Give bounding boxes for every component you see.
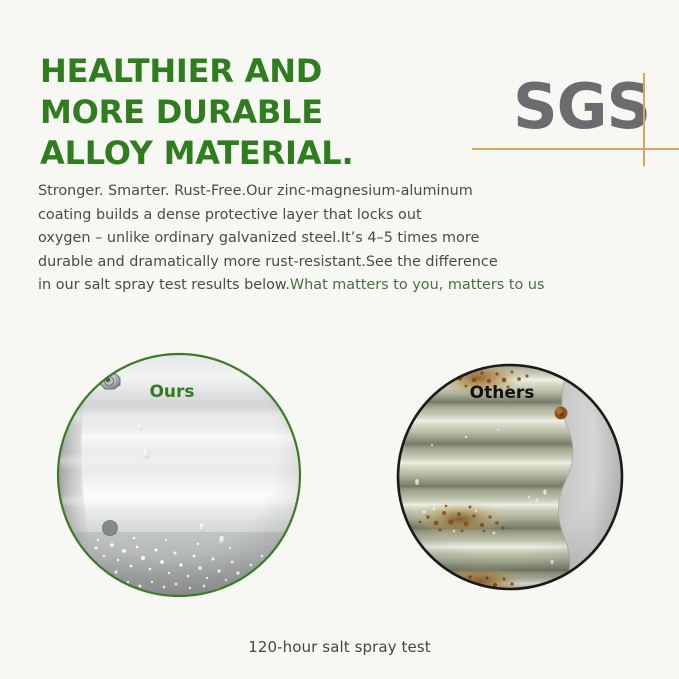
paragraph-line-3: oxygen – unlike ordinary galvanized stee… [38, 227, 644, 251]
ours-circle-border [58, 354, 300, 596]
headline-line-2: MORE DURABLE [40, 92, 440, 133]
paragraph-line-5: in our salt spray test results below.Wha… [38, 274, 644, 298]
corrugation-ribs [396, 363, 626, 601]
rust-spot [555, 407, 568, 420]
large-droplets [138, 424, 225, 545]
paragraph-line-5-plain: in our salt spray test results below. [38, 277, 290, 293]
paragraph-line-2: coating builds a dense protective layer … [38, 204, 644, 228]
ours-label: Ours [149, 382, 194, 402]
page-title: HEALTHIER AND MORE DURABLE ALLOY MATERIA… [40, 51, 440, 174]
water-droplets [89, 537, 264, 591]
surface-speckles [415, 429, 553, 567]
rust-patch-bottom [438, 566, 522, 598]
rust-patch-top [434, 361, 529, 395]
body-paragraph: Stronger. Smarter. Rust-Free.Our zinc-ma… [38, 180, 644, 298]
sgs-logo-text: SGS [513, 66, 650, 148]
wavy-edge [558, 363, 626, 593]
paragraph-line-4: durable and dramatically more rust-resis… [38, 251, 644, 275]
sgs-vertical-rule [643, 73, 645, 166]
tagline-accent: What matters to you, matters to us [290, 277, 545, 293]
paragraph-line-1: Stronger. Smarter. Rust-Free.Our zinc-ma… [38, 180, 644, 204]
rivet [103, 521, 118, 536]
headline-line-3: ALLOY MATERIAL. [40, 133, 440, 174]
others-sample: Others [396, 361, 626, 601]
headline-line-1: HEALTHIER AND [40, 51, 440, 92]
ours-sample: Ours [58, 354, 300, 596]
hex-bolt [100, 373, 120, 389]
sgs-horizontal-rule [472, 148, 679, 150]
promo-panel: HEALTHIER AND MORE DURABLE ALLOY MATERIA… [0, 0, 679, 679]
rust-patch-middle [412, 501, 508, 537]
others-circle-border [398, 365, 622, 589]
others-label: Others [470, 383, 535, 403]
figure-caption: 120-hour salt spray test [0, 638, 679, 656]
sgs-logo: SGS [470, 66, 679, 168]
